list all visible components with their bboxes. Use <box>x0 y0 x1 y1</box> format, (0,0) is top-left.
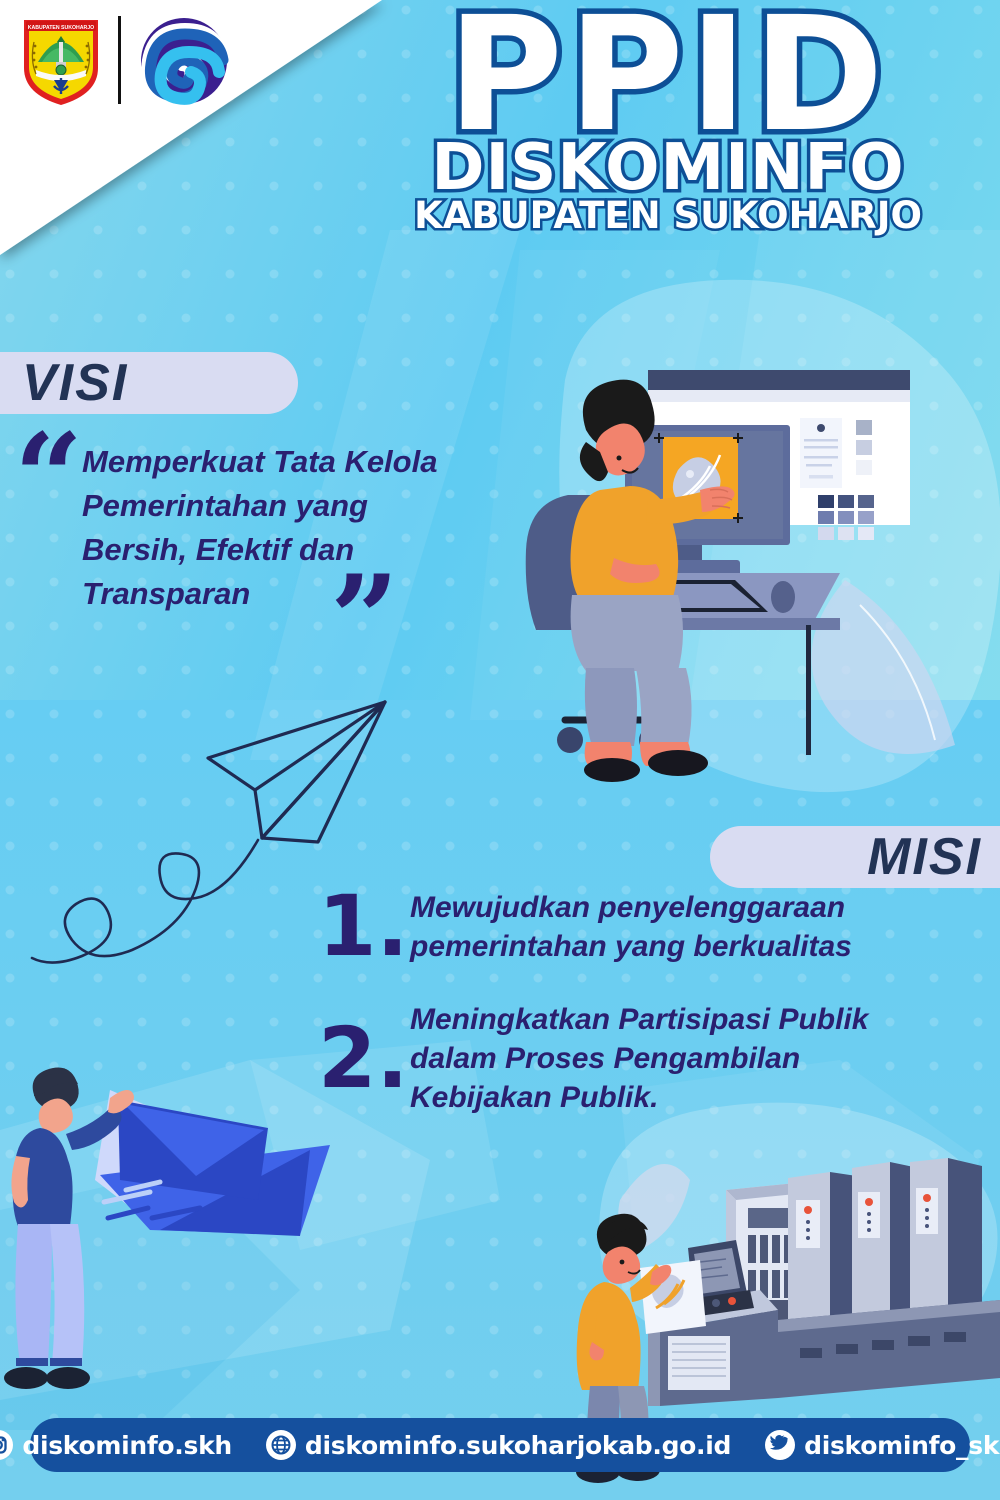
globe-icon <box>266 1430 296 1460</box>
title-block: PPID DISKOMINFO KABUPATEN SUKOHARJO <box>358 8 978 234</box>
website-contact[interactable]: diskominfo.sukoharjokab.go.id <box>266 1430 731 1460</box>
quote-close-icon: ” <box>330 560 399 680</box>
misi-badge: MISI <box>710 826 1000 888</box>
misi-item-text: Mewujudkan penyelenggaraan pemerintahan … <box>410 888 852 966</box>
instagram-contact[interactable]: diskominfo.skh <box>0 1430 232 1460</box>
designer-illustration <box>526 280 1000 792</box>
misi-item: 2. Meningkatkan Partisipasi Publik dalam… <box>318 1000 990 1117</box>
footer-contact-bar: diskominfo.skh diskominfo.sukoharjokab.g… <box>30 1418 970 1472</box>
svg-text:KABUPATEN SUKOHARJO: KABUPATEN SUKOHARJO <box>28 25 94 31</box>
visi-text: Memperkuat Tata Kelola Pemerintahan yang… <box>82 440 532 616</box>
visi-body: Memperkuat Tata Kelola Pemerintahan yang… <box>82 440 532 616</box>
instagram-handle: diskominfo.skh <box>22 1431 232 1460</box>
kominfo-wave-logo <box>135 12 233 108</box>
visi-badge: VISI <box>0 352 298 414</box>
misi-badge-label: MISI <box>867 827 982 887</box>
header: KABUPATEN SUKOHARJO <box>0 0 1000 290</box>
misi-list: 1. Mewujudkan penyelenggaraan pemerintah… <box>318 888 990 1151</box>
page-title: PPID <box>358 8 978 144</box>
website-url: diskominfo.sukoharjokab.go.id <box>305 1431 731 1460</box>
visi-badge-label: VISI <box>22 353 128 413</box>
misi-item: 1. Mewujudkan penyelenggaraan pemerintah… <box>318 888 990 966</box>
misi-item-text: Meningkatkan Partisipasi Publik dalam Pr… <box>410 1000 868 1117</box>
twitter-contact[interactable]: diskominfo_skh <box>765 1430 1000 1460</box>
misi-item-number: 1. <box>318 889 410 965</box>
page-subtitle-2: KABUPATEN SUKOHARJO <box>358 197 978 234</box>
logo-divider <box>118 16 121 104</box>
twitter-icon <box>765 1430 795 1460</box>
twitter-handle: diskominfo_skh <box>804 1431 1000 1460</box>
quote-open-icon: “ <box>14 418 83 538</box>
misi-item-number: 2. <box>318 1021 410 1097</box>
instagram-icon <box>0 1430 13 1460</box>
sukoharjo-regency-emblem: KABUPATEN SUKOHARJO <box>18 12 104 108</box>
page-subtitle: DISKOMINFO <box>358 138 978 199</box>
logo-row: KABUPATEN SUKOHARJO <box>18 12 233 108</box>
